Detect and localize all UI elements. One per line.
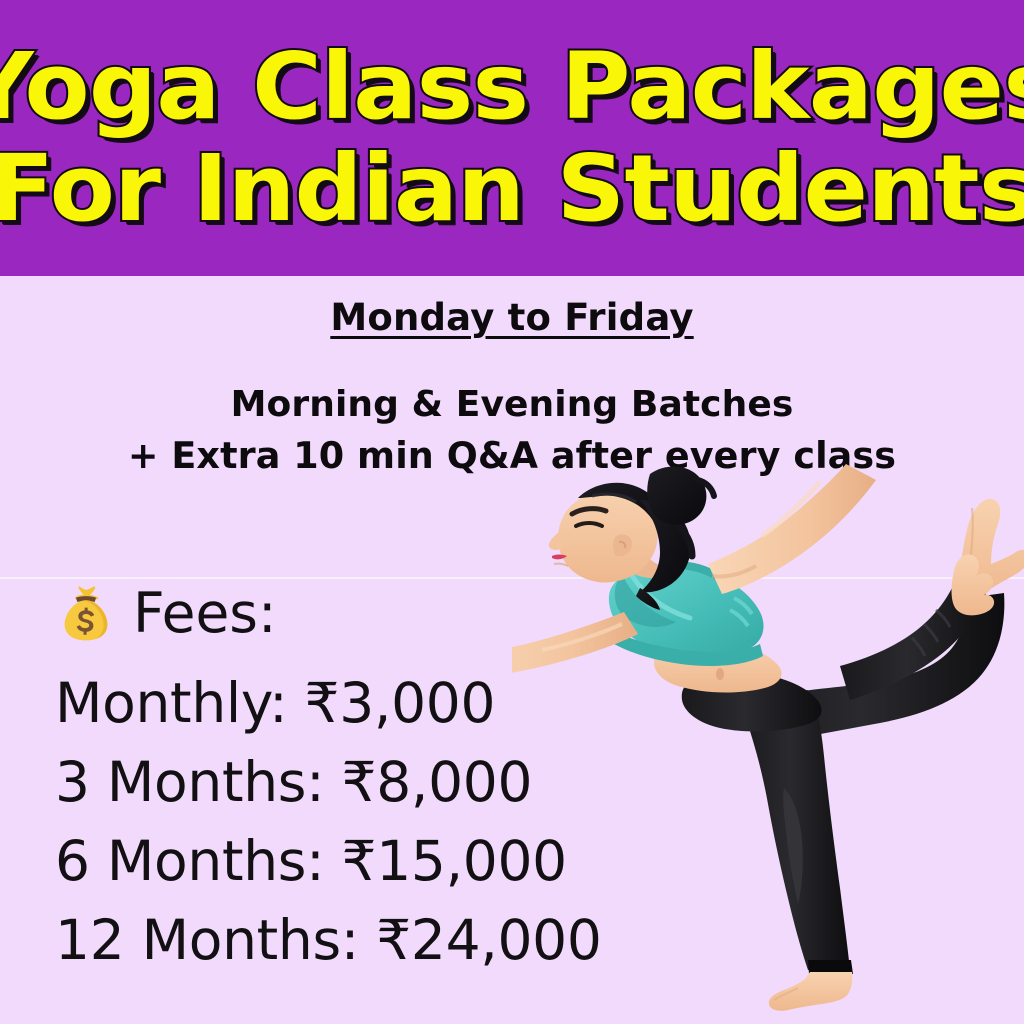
schedule-heading: Monday to Friday bbox=[330, 297, 693, 340]
fee-row: Monthly: ₹3,000 bbox=[55, 676, 695, 731]
schedule-heading-wrapper: Monday to Friday bbox=[0, 297, 1024, 340]
fee-row: 12 Months: ₹24,000 bbox=[55, 913, 695, 968]
fees-label: Fees: bbox=[133, 586, 277, 641]
schedule-batches-line: Morning & Evening Batches bbox=[0, 382, 1024, 428]
schedule-qa-line: + Extra 10 min Q&A after every class bbox=[0, 433, 1024, 480]
page-title-line-2: (For Indian Students) bbox=[0, 143, 1024, 235]
fee-row: 6 Months: ₹15,000 bbox=[55, 834, 695, 889]
yoga-class-packages-poster: Yoga Class Packages (For Indian Students… bbox=[0, 0, 1024, 1024]
page-title-line-1: Yoga Class Packages bbox=[0, 41, 1024, 133]
fee-row: 3 Months: ₹8,000 bbox=[55, 755, 695, 810]
fees-block: Fees: Monthly: ₹3,000 3 Months: ₹8,000 6… bbox=[55, 574, 695, 968]
fees-heading: Fees: bbox=[55, 574, 695, 652]
money-bag-icon bbox=[55, 582, 117, 644]
header-banner: Yoga Class Packages (For Indian Students… bbox=[0, 0, 1024, 276]
schedule-block: Monday to Friday Morning & Evening Batch… bbox=[0, 297, 1024, 479]
